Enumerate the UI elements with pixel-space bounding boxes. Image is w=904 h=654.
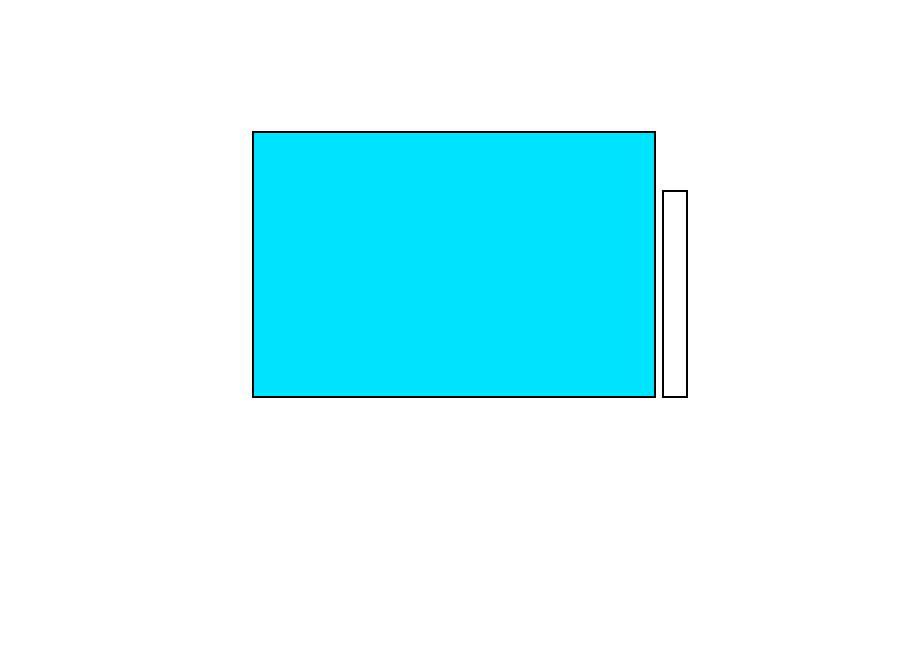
contour-plot-frame xyxy=(252,131,656,398)
colorbar xyxy=(662,190,688,398)
vertical-velocity-field xyxy=(254,133,654,396)
